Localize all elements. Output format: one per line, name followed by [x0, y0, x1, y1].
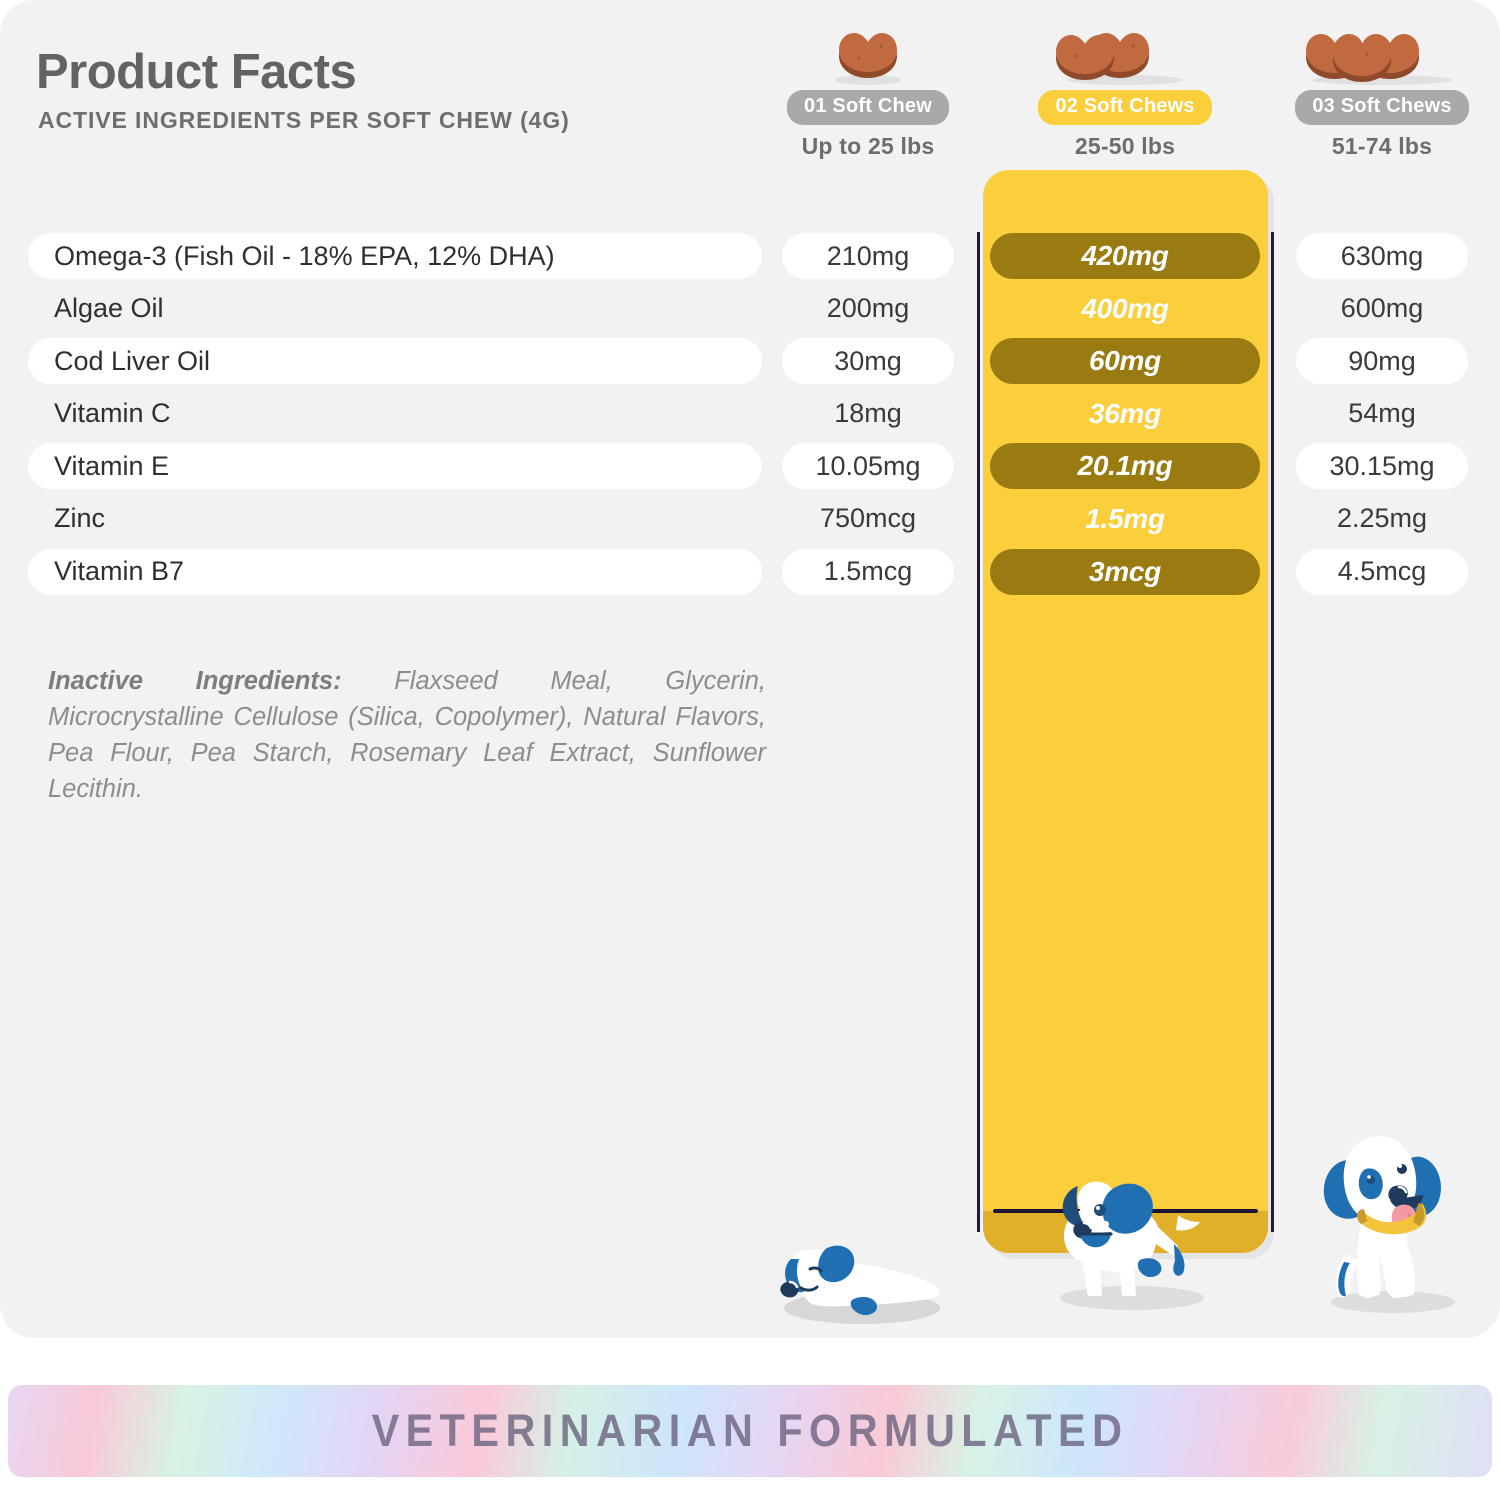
ingredient-dose-2: 3mcg [990, 549, 1260, 595]
soft-chew-icon-group-1 [748, 24, 988, 86]
ingredient-dose-3: 54mg [1296, 391, 1468, 437]
dose-badge-3: 03 Soft Chews [1295, 90, 1468, 125]
ingredient-dose-2: 20.1mg [990, 443, 1260, 489]
dog-sitting-large-illustration [1300, 1114, 1485, 1314]
dose-weight-1: Up to 25 lbs [748, 133, 988, 160]
dog-walking-medium-illustration [1032, 1168, 1232, 1310]
ingredient-dose-1: 10.05mg [782, 443, 954, 489]
ingredient-name: Cod Liver Oil [28, 338, 762, 384]
table-row: Vitamin C 18mg 36mg 54mg [0, 391, 1500, 444]
page-subtitle: ACTIVE INGREDIENTS PER SOFT CHEW (4G) [38, 107, 570, 134]
veterinarian-formulated-banner: VETERINARIAN FORMULATED [8, 1385, 1492, 1477]
table-row: Algae Oil 200mg 400mg 600mg [0, 286, 1500, 339]
ingredient-dose-3: 630mg [1296, 233, 1468, 279]
inactive-ingredients-label: Inactive Ingredients: [48, 667, 342, 695]
page-title: Product Facts [36, 44, 356, 100]
ingredient-dose-3: 90mg [1296, 338, 1468, 384]
ingredient-dose-1: 1.5mcg [782, 549, 954, 595]
ingredient-dose-3: 600mg [1296, 286, 1468, 332]
ingredient-dose-2: 400mg [990, 286, 1260, 332]
table-row: Omega-3 (Fish Oil - 18% EPA, 12% DHA) 21… [0, 233, 1500, 286]
dose-badge-1: 01 Soft Chew [787, 90, 949, 125]
ingredient-dose-2: 60mg [990, 338, 1260, 384]
ingredient-dose-3: 30.15mg [1296, 443, 1468, 489]
ingredient-dose-3: 4.5mcg [1296, 549, 1468, 595]
ingredient-name: Omega-3 (Fish Oil - 18% EPA, 12% DHA) [28, 233, 762, 279]
dose-column-header-2: 02 Soft Chews 25-50 lbs [1005, 24, 1245, 160]
ingredient-dose-1: 200mg [782, 286, 954, 332]
ingredient-dose-1: 750mcg [782, 496, 954, 542]
ingredient-dose-1: 30mg [782, 338, 954, 384]
dose-weight-3: 51-74 lbs [1262, 133, 1500, 160]
ingredient-name: Zinc [28, 496, 762, 542]
dose-badge-2: 02 Soft Chews [1038, 90, 1211, 125]
ingredient-name: Vitamin C [28, 391, 762, 437]
soft-chew-heart-icon [1287, 24, 1477, 86]
dog-lying-small-illustration [757, 1216, 957, 1326]
table-row: Cod Liver Oil 30mg 60mg 90mg [0, 338, 1500, 391]
inactive-ingredients: Inactive Ingredients: Flaxseed Meal, Gly… [48, 663, 766, 807]
dose-column-header-3: 03 Soft Chews 51-74 lbs [1262, 24, 1500, 160]
dose-column-header-1: 01 Soft Chew Up to 25 lbs [748, 24, 988, 160]
ingredient-name: Vitamin B7 [28, 549, 762, 595]
table-row: Vitamin E 10.05mg 20.1mg 30.15mg [0, 443, 1500, 496]
ingredient-dose-3: 2.25mg [1296, 496, 1468, 542]
ingredient-dose-2: 36mg [990, 391, 1260, 437]
ingredient-name: Vitamin E [28, 443, 762, 489]
ingredient-dose-1: 18mg [782, 391, 954, 437]
product-facts-card: Product Facts ACTIVE INGREDIENTS PER SOF… [0, 0, 1500, 1338]
banner-text: VETERINARIAN FORMULATED [67, 1385, 1432, 1477]
soft-chew-heart-icon [1045, 24, 1205, 86]
soft-chew-heart-icon [823, 24, 913, 86]
ingredient-name: Algae Oil [28, 286, 762, 332]
ingredients-table: Omega-3 (Fish Oil - 18% EPA, 12% DHA) 21… [0, 233, 1500, 601]
soft-chew-icon-group-3 [1262, 24, 1500, 86]
soft-chew-icon-group-2 [1005, 24, 1245, 86]
ingredient-dose-2: 1.5mg [990, 496, 1260, 542]
table-row: Vitamin B7 1.5mcg 3mcg 4.5mcg [0, 549, 1500, 602]
ingredient-dose-2: 420mg [990, 233, 1260, 279]
dose-weight-2: 25-50 lbs [1005, 133, 1245, 160]
table-row: Zinc 750mcg 1.5mg 2.25mg [0, 496, 1500, 549]
ingredient-dose-1: 210mg [782, 233, 954, 279]
